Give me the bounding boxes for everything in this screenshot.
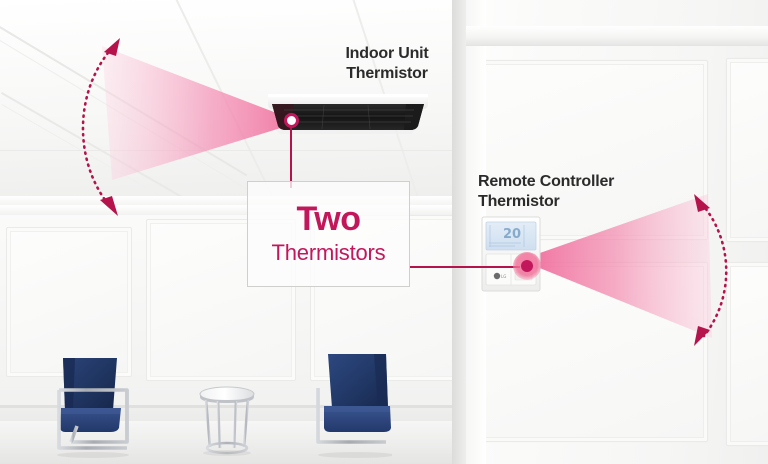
left-arc-double-arrow-icon — [68, 30, 140, 220]
right-arc-double-arrow-icon — [684, 186, 746, 352]
side-table — [198, 385, 256, 457]
label-indoor-line1: Indoor Unit — [345, 45, 428, 62]
armchair-left — [57, 352, 183, 458]
label-remote-line1: Remote Controller — [478, 173, 614, 190]
label-remote-line2: Thermistor — [478, 193, 560, 210]
label-indoor-unit: Indoor Unit Thermistor — [302, 44, 472, 84]
target-ring-icon — [284, 113, 299, 128]
label-indoor-line2: Thermistor — [302, 64, 472, 84]
callout-subline: Thermistors — [272, 239, 386, 267]
svg-text:LG: LG — [501, 274, 506, 279]
callout-box: Two Thermistors — [247, 181, 410, 287]
lg-logo-icon: LG — [494, 273, 507, 279]
remote-temperature: 20 — [503, 227, 521, 242]
crown-molding-right — [466, 26, 768, 46]
connector-line-remote — [410, 266, 520, 268]
thermistor-illustration: 20 LG Two Thermistors Indoor Unit Thermi… — [0, 0, 768, 464]
sensor-dot-icon — [513, 252, 541, 280]
connector-line-indoor — [290, 126, 292, 188]
armchair-right — [266, 350, 392, 458]
callout-headline: Two — [297, 202, 361, 236]
label-remote-controller: Remote Controller Thermistor — [478, 172, 668, 212]
